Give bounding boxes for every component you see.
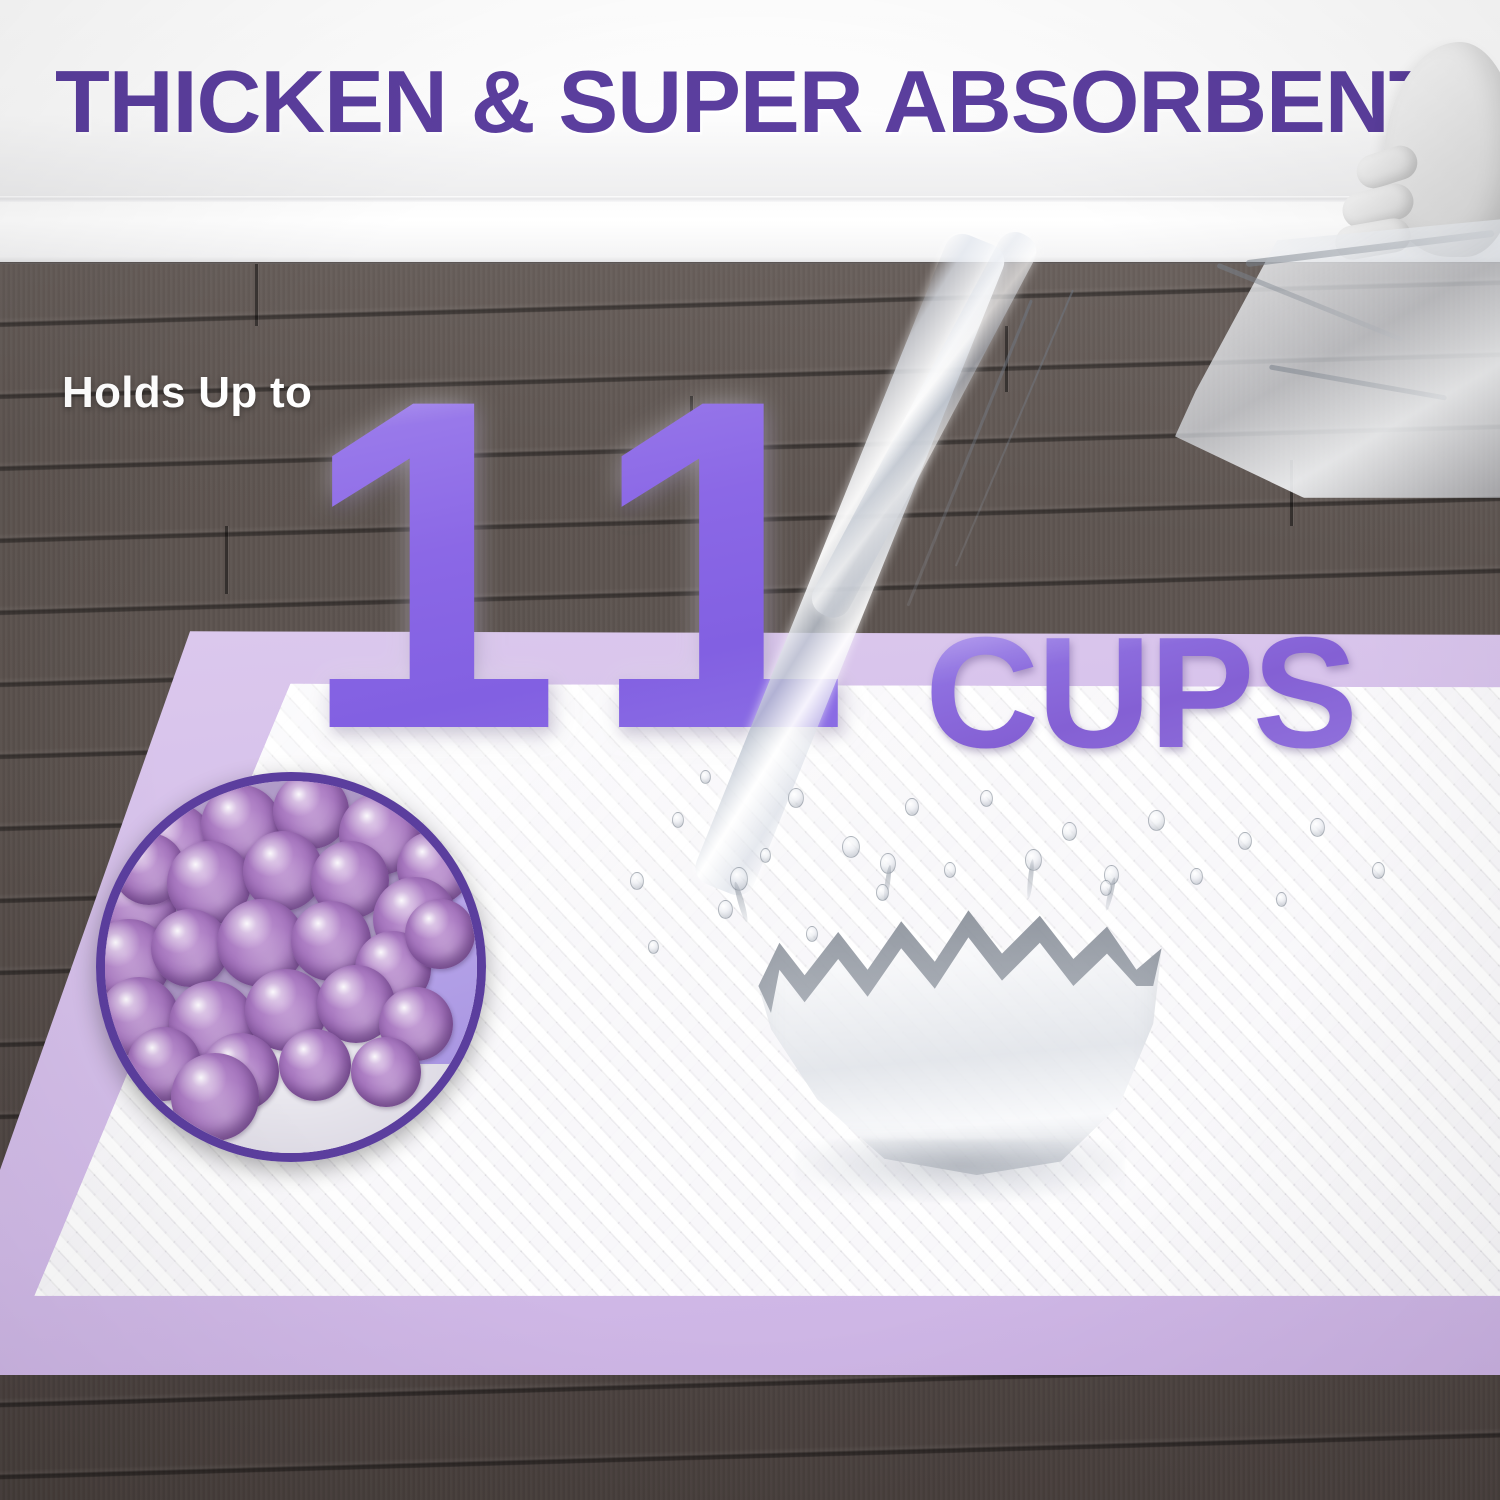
droplet xyxy=(1190,868,1203,885)
droplet xyxy=(1062,822,1077,841)
cups-unit-label: CUPS xyxy=(925,614,1356,772)
droplet xyxy=(1372,862,1385,879)
gel-bead xyxy=(351,1037,421,1107)
gel-bead xyxy=(171,1053,259,1141)
droplet xyxy=(672,812,684,828)
droplet xyxy=(760,848,771,863)
droplet xyxy=(980,790,993,807)
water-splash xyxy=(690,855,1230,1210)
floor-seam xyxy=(255,264,258,326)
droplet xyxy=(1100,880,1112,896)
droplet xyxy=(944,862,956,878)
droplet xyxy=(788,788,804,808)
floor-seam xyxy=(225,526,228,594)
droplet xyxy=(842,836,860,858)
gel-bead xyxy=(405,899,475,969)
droplet xyxy=(905,798,919,816)
holds-up-to-label: Holds Up to xyxy=(62,368,312,418)
gel-bead-closeup-inset xyxy=(96,772,486,1162)
droplet xyxy=(876,884,889,901)
droplet xyxy=(730,867,748,891)
droplet xyxy=(700,770,711,784)
droplet xyxy=(1276,892,1287,907)
droplet xyxy=(1238,832,1252,850)
splash-ripple xyxy=(795,1140,1125,1202)
droplet xyxy=(718,900,733,919)
droplet xyxy=(1025,849,1042,871)
product-feature-banner: THICKEN & SUPER ABSORBENT Holds Up to 11… xyxy=(0,0,1500,1500)
droplet xyxy=(806,926,818,942)
droplet xyxy=(1310,818,1325,837)
droplet xyxy=(630,872,644,890)
headline-text: THICKEN & SUPER ABSORBENT xyxy=(55,58,1381,146)
gel-bead xyxy=(279,1029,351,1101)
droplet xyxy=(1148,810,1165,831)
droplet xyxy=(648,940,659,954)
droplet xyxy=(880,853,896,874)
